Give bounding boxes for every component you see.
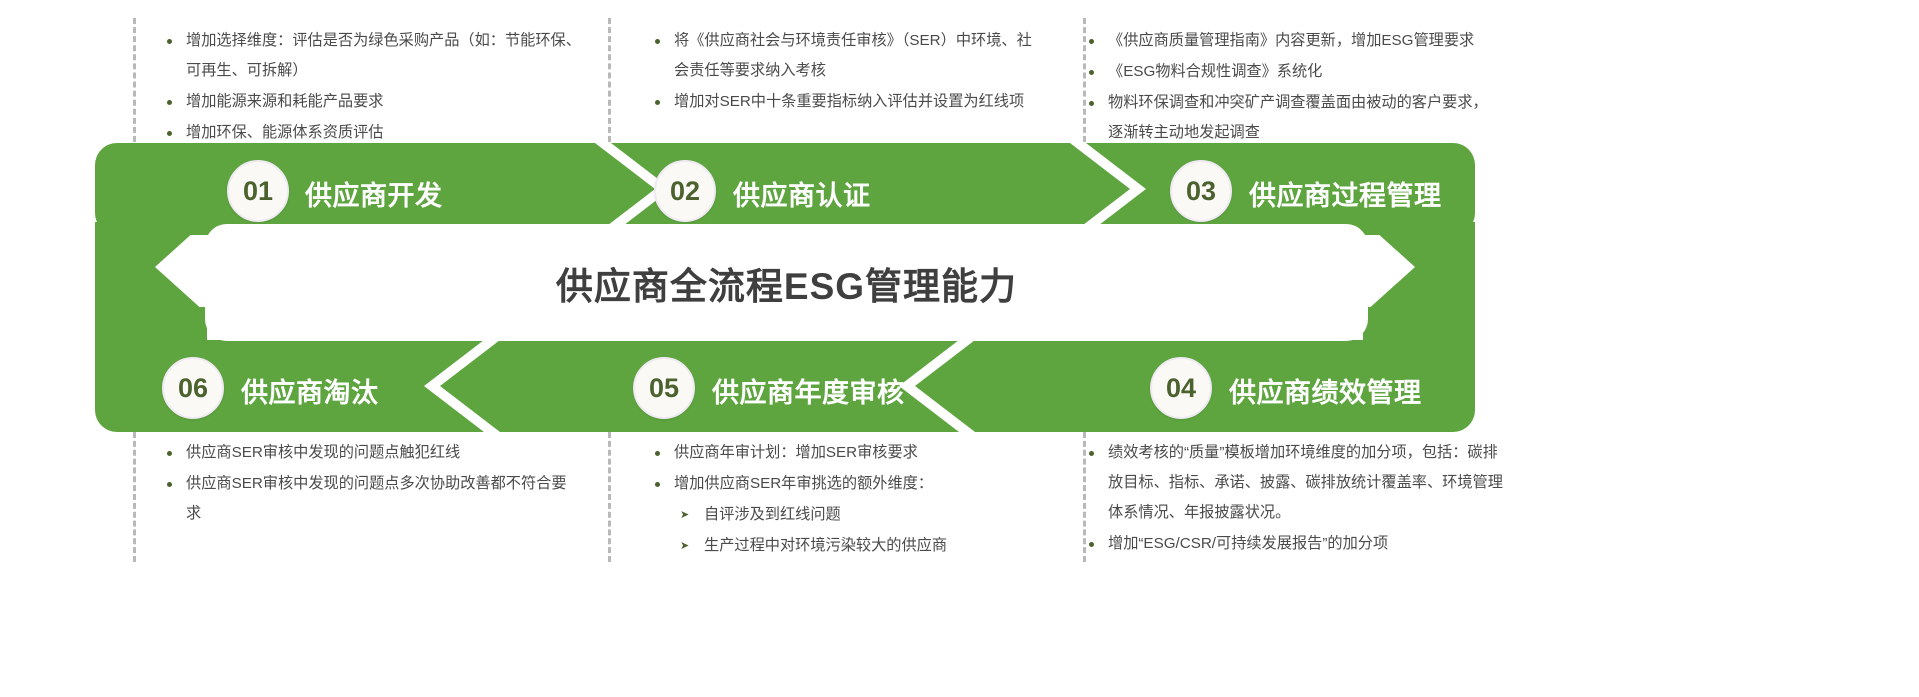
divider-top-mid — [608, 18, 611, 142]
note-item: 增加对SER中十条重要指标纳入评估并设置为红线项 — [648, 87, 1038, 117]
note-item: 《ESG物料合规性调查》系统化 — [1082, 57, 1497, 87]
note-item: 增加供应商SER年审挑选的额外维度： — [648, 469, 1048, 499]
notes-column-03: 《供应商质量管理指南》内容更新，增加ESG管理要求 《ESG物料合规性调查》系统… — [1082, 26, 1497, 149]
notes-column-01: 增加选择维度：评估是否为绿色采购产品（如：节能环保、可再生、可拆解） 增加能源来… — [160, 26, 585, 149]
divider-bottom-mid — [608, 432, 611, 562]
stage-number-04: 04 — [1150, 357, 1212, 419]
stage-number-06: 06 — [162, 357, 224, 419]
note-subitem: 生产过程中对环境污染较大的供应商 — [674, 531, 1048, 561]
stage-label-02: 供应商认证 — [733, 174, 871, 213]
stage-number-05: 05 — [633, 357, 695, 419]
note-item: 绩效考核的“质量”模板增加环境维度的加分项，包括：碳排放目标、指标、承诺、披露、… — [1082, 438, 1507, 528]
notes-column-05: 供应商年审计划：增加SER审核要求 增加供应商SER年审挑选的额外维度： 自评涉… — [648, 438, 1048, 562]
note-subitem: 自评涉及到红线问题 — [674, 500, 1048, 530]
esg-process-diagram: 增加选择维度：评估是否为绿色采购产品（如：节能环保、可再生、可拆解） 增加能源来… — [0, 0, 1919, 697]
note-item: 增加能源来源和耗能产品要求 — [160, 87, 585, 117]
stage-label-03: 供应商过程管理 — [1249, 174, 1442, 213]
stage-label-06: 供应商淘汰 — [241, 371, 379, 410]
note-item: 增加选择维度：评估是否为绿色采购产品（如：节能环保、可再生、可拆解） — [160, 26, 585, 86]
note-item: 增加“ESG/CSR/可持续发展报告”的加分项 — [1082, 529, 1507, 559]
divider-top-left — [133, 18, 136, 142]
notes-column-04: 绩效考核的“质量”模板增加环境维度的加分项，包括：碳排放目标、指标、承诺、披露、… — [1082, 438, 1507, 560]
note-item: 供应商SER审核中发现的问题点触犯红线 — [160, 438, 580, 468]
divider-bottom-left — [133, 432, 136, 562]
stage-label-04: 供应商绩效管理 — [1229, 371, 1422, 410]
stage-number-02: 02 — [654, 160, 716, 222]
notes-column-06: 供应商SER审核中发现的问题点触犯红线 供应商SER审核中发现的问题点多次协助改… — [160, 438, 580, 530]
note-item: 将《供应商社会与环境责任审核》（SER）中环境、社会责任等要求纳入考核 — [648, 26, 1038, 86]
note-item: 供应商年审计划：增加SER审核要求 — [648, 438, 1048, 468]
stage-number-03: 03 — [1170, 160, 1232, 222]
stage-label-05: 供应商年度审核 — [712, 371, 905, 410]
center-title: 供应商全流程ESG管理能力 — [205, 224, 1368, 341]
note-item: 供应商SER审核中发现的问题点多次协助改善都不符合要求 — [160, 469, 580, 529]
stage-number-01: 01 — [227, 160, 289, 222]
note-item: 《供应商质量管理指南》内容更新，增加ESG管理要求 — [1082, 26, 1497, 56]
stage-label-01: 供应商开发 — [305, 174, 443, 213]
note-item: 物料环保调查和冲突矿产调查覆盖面由被动的客户要求，逐渐转主动地发起调查 — [1082, 88, 1497, 148]
notes-column-02: 将《供应商社会与环境责任审核》（SER）中环境、社会责任等要求纳入考核 增加对S… — [648, 26, 1038, 118]
